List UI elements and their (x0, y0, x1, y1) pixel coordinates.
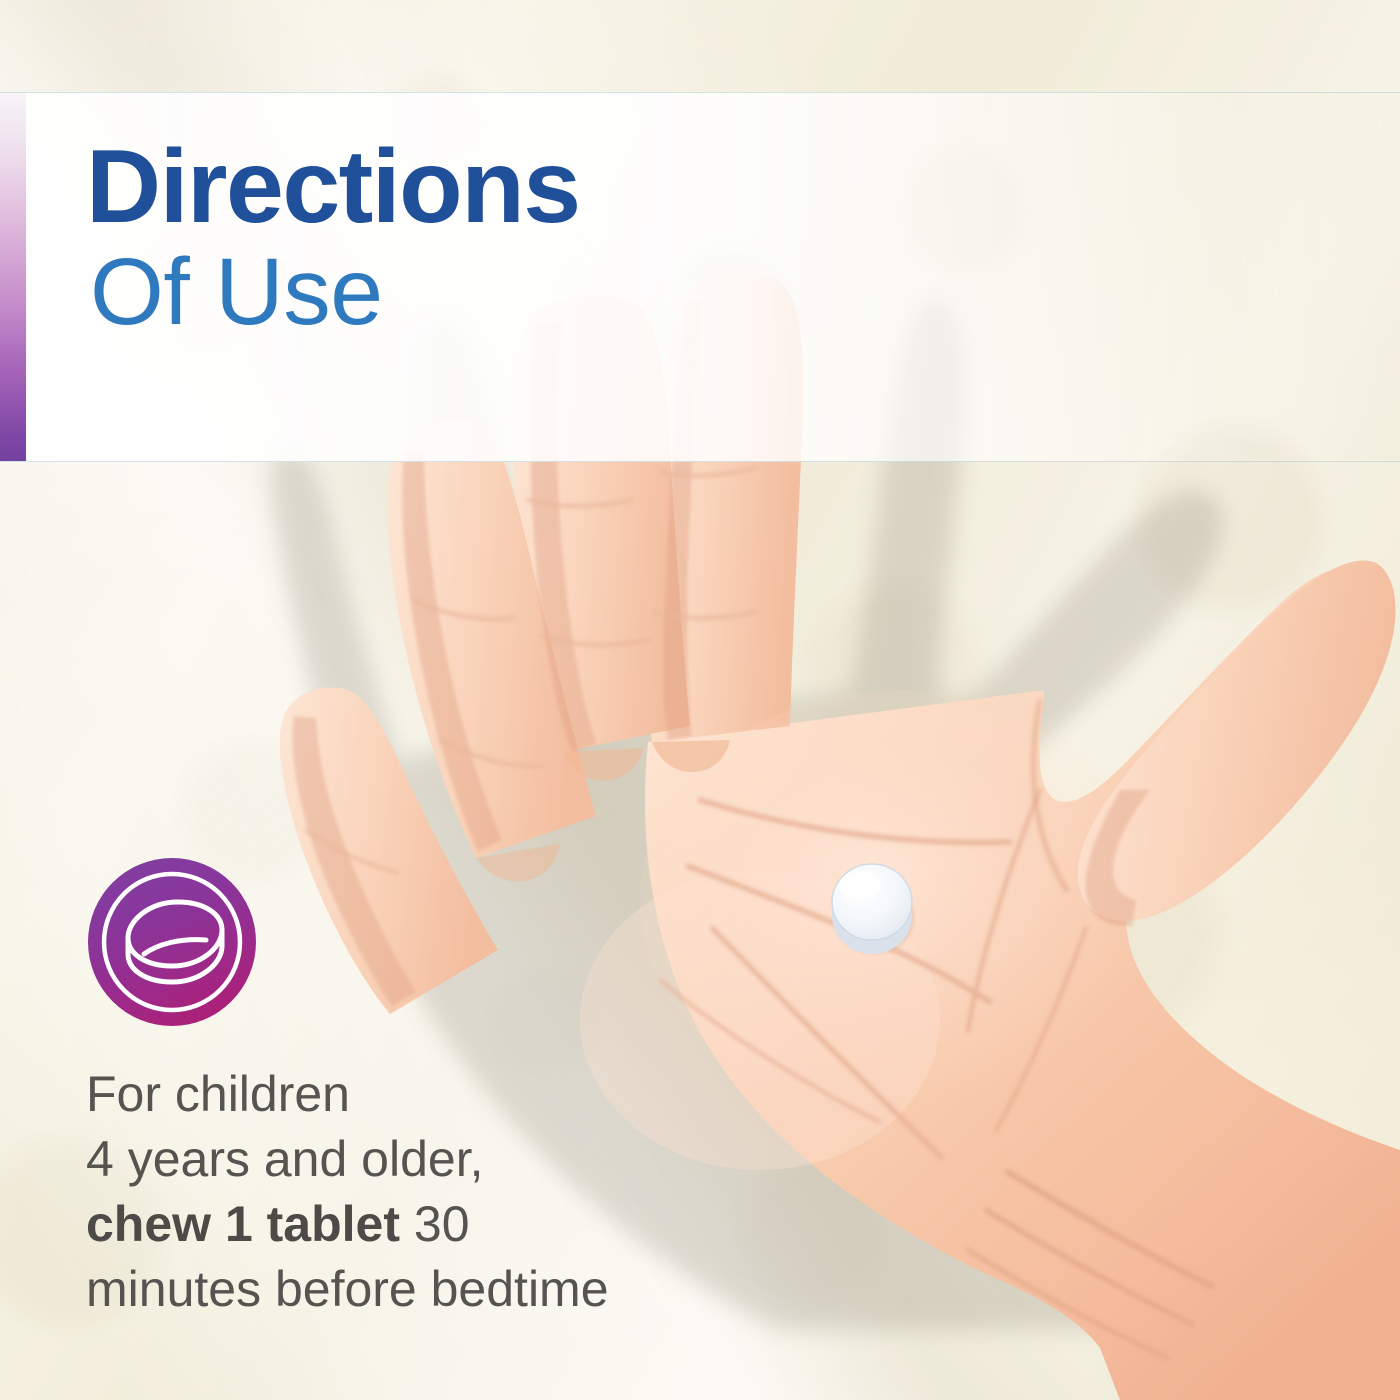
instruction-line-3: chew 1 tablet 30 (86, 1192, 726, 1257)
instruction-line-4: minutes before bedtime (86, 1257, 726, 1322)
instruction-emphasis: chew 1 tablet (86, 1196, 400, 1252)
accent-gradient-bar (0, 93, 26, 461)
instruction-line-1: For children (86, 1062, 726, 1127)
instructions-text: For children 4 years and older, chew 1 t… (86, 1062, 726, 1322)
title-line-2: Of Use (90, 244, 906, 341)
two-tablets-icon (88, 858, 256, 1026)
page-title: Directions Of Use (86, 138, 906, 341)
title-line-1: Directions (86, 138, 906, 238)
tablet-in-palm (832, 864, 914, 954)
poster-canvas: Directions Of Use For children 4 years a… (0, 0, 1400, 1400)
instruction-line-2: 4 years and older, (86, 1127, 726, 1192)
instruction-line-3-rest: 30 (400, 1196, 470, 1252)
